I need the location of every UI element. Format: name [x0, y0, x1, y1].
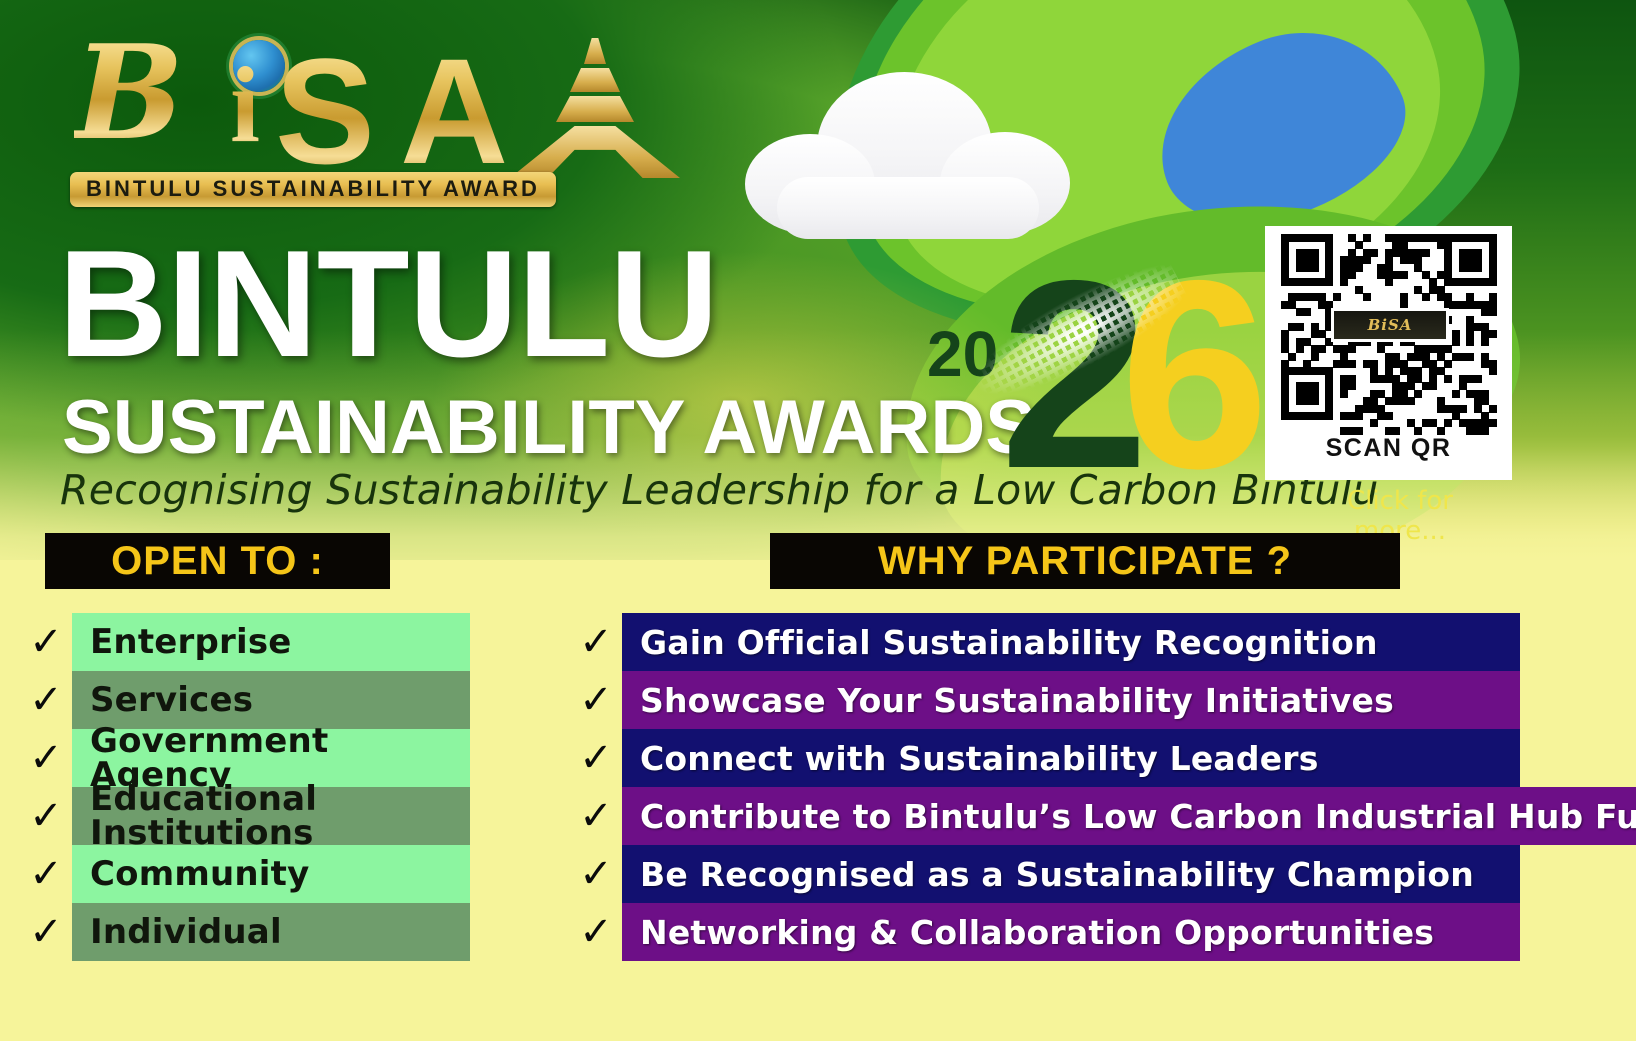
- check-icon: ✓: [20, 738, 72, 778]
- why-participate-item-pill: Showcase Your Sustainability Initiatives: [622, 671, 1520, 729]
- qr-code-image[interactable]: BiSA: [1281, 234, 1496, 432]
- open-to-list: ✓Enterprise✓Services✓Government Agency✓E…: [20, 613, 470, 961]
- list-item: ✓Enterprise: [20, 613, 470, 671]
- why-participate-item-label: Networking & Collaboration Opportunities: [640, 916, 1434, 949]
- why-participate-item-label: Contribute to Bintulu’s Low Carbon Indus…: [640, 800, 1636, 833]
- why-participate-item-pill: Networking & Collaboration Opportunities: [622, 903, 1520, 961]
- scan-qr-label: SCAN QR: [1326, 434, 1452, 463]
- list-item: ✓Connect with Sustainability Leaders: [570, 729, 1520, 787]
- open-to-item-label: Services: [90, 683, 253, 717]
- open-to-header: OPEN TO :: [45, 533, 390, 589]
- open-to-item-pill: Individual: [72, 903, 470, 961]
- open-to-item-pill: Community: [72, 845, 470, 903]
- page-title: BINTULU: [58, 228, 718, 380]
- tower-icon: [500, 38, 690, 178]
- list-item: ✓Networking & Collaboration Opportunitie…: [570, 903, 1520, 961]
- check-icon: ✓: [20, 854, 72, 894]
- year-prefix-20: 20: [927, 322, 998, 386]
- logo-letter-s: S: [275, 36, 375, 186]
- list-item: ✓Be Recognised as a Sustainability Champ…: [570, 845, 1520, 903]
- qr-logo-text: BiSA: [1368, 316, 1413, 334]
- list-item: ✓Showcase Your Sustainability Initiative…: [570, 671, 1520, 729]
- year-digit-6: 6: [1120, 240, 1269, 508]
- logo-letter-i: i: [230, 52, 260, 160]
- open-to-item-label: Community: [90, 857, 309, 891]
- list-item: ✓Community: [20, 845, 470, 903]
- why-participate-header: WHY PARTICIPATE ?: [770, 533, 1400, 589]
- check-icon: ✓: [570, 622, 622, 662]
- logo-badge-text: BINTULU SUSTAINABILITY AWARD: [70, 172, 556, 207]
- logo-letter-a: A: [400, 36, 508, 186]
- open-to-item-label: Enterprise: [90, 625, 292, 659]
- year-graphic: 2 6 20: [915, 240, 1215, 500]
- open-to-item-label: Individual: [90, 915, 282, 949]
- cloud-icon: [745, 72, 1070, 242]
- open-to-item-label: Educational Institutions: [90, 782, 470, 850]
- bisa-logo[interactable]: B i S A BINTULU SUSTAINABILITY AWARD: [70, 22, 690, 212]
- list-item: ✓Individual: [20, 903, 470, 961]
- list-item: ✓Contribute to Bintulu’s Low Carbon Indu…: [570, 787, 1520, 845]
- check-icon: ✓: [570, 738, 622, 778]
- why-participate-list: ✓Gain Official Sustainability Recognitio…: [570, 613, 1520, 961]
- list-item: ✓Educational Institutions: [20, 787, 470, 845]
- check-icon: ✓: [20, 622, 72, 662]
- why-participate-item-pill: Contribute to Bintulu’s Low Carbon Indus…: [622, 787, 1636, 845]
- logo-mark: B i S A: [70, 22, 690, 172]
- logo-letter-b: B: [74, 28, 184, 158]
- why-participate-item-pill: Gain Official Sustainability Recognition: [622, 613, 1520, 671]
- check-icon: ✓: [20, 680, 72, 720]
- qr-center-logo: BiSA: [1331, 308, 1449, 342]
- check-icon: ✓: [570, 796, 622, 836]
- check-icon: ✓: [20, 912, 72, 952]
- check-icon: ✓: [570, 912, 622, 952]
- why-participate-item-label: Gain Official Sustainability Recognition: [640, 626, 1378, 659]
- poster-canvas: B i S A BINTULU SUSTAINABILITY AWARD BIN…: [0, 0, 1636, 1041]
- list-item: ✓Gain Official Sustainability Recognitio…: [570, 613, 1520, 671]
- why-participate-item-label: Connect with Sustainability Leaders: [640, 742, 1319, 775]
- check-icon: ✓: [20, 796, 72, 836]
- why-participate-item-pill: Connect with Sustainability Leaders: [622, 729, 1520, 787]
- qr-code-card[interactable]: BiSA SCAN QR: [1265, 226, 1512, 480]
- why-participate-item-label: Showcase Your Sustainability Initiatives: [640, 684, 1394, 717]
- check-icon: ✓: [570, 854, 622, 894]
- why-participate-item-pill: Be Recognised as a Sustainability Champi…: [622, 845, 1520, 903]
- why-participate-item-label: Be Recognised as a Sustainability Champi…: [640, 858, 1474, 891]
- open-to-item-pill: Enterprise: [72, 613, 470, 671]
- check-icon: ✓: [570, 680, 622, 720]
- page-subtitle: SUSTAINABILITY AWARDS: [62, 390, 1036, 466]
- open-to-item-pill: Educational Institutions: [72, 787, 470, 845]
